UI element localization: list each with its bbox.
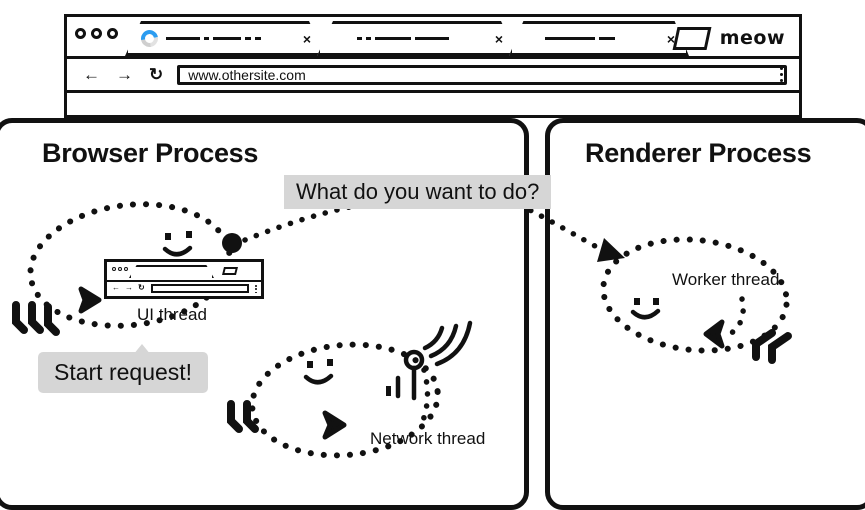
- mini-window-dot-icon: [118, 267, 122, 271]
- browser-process-title: Browser Process: [42, 138, 258, 169]
- forward-icon[interactable]: →: [116, 66, 133, 83]
- browser-brand-label: meow: [720, 27, 785, 49]
- browser-tab-3[interactable]: ×: [509, 21, 689, 56]
- mini-new-tab-icon: [222, 267, 238, 275]
- url-toolbar: ← → ↻ www.othersite.com: [67, 59, 799, 93]
- mini-window-dot-icon: [112, 267, 116, 271]
- mini-back-icon: ←: [112, 284, 120, 292]
- tab-title-scribble: [166, 37, 303, 40]
- mini-window-controls: [112, 267, 128, 271]
- network-thread-label: Network thread: [370, 429, 485, 449]
- mini-reload-icon: ↻: [138, 284, 145, 292]
- worker-thread-label: Worker thread: [672, 270, 779, 290]
- new-tab-button[interactable]: [673, 27, 712, 50]
- url-input[interactable]: www.othersite.com: [177, 65, 787, 85]
- tab-strip: × × × meow: [67, 17, 799, 59]
- window-control-dot-icon[interactable]: [75, 28, 86, 39]
- tab-close-icon[interactable]: ×: [495, 32, 503, 46]
- window-control-dot-icon[interactable]: [107, 28, 118, 39]
- mini-forward-icon: →: [125, 284, 133, 292]
- mini-menu-icon: [255, 285, 257, 293]
- browser-tab-2[interactable]: ×: [317, 21, 517, 56]
- tab-title-scribble: [545, 37, 667, 40]
- ui-thread-mini-browser: ← → ↻: [104, 259, 264, 299]
- browser-menu-icon[interactable]: [780, 67, 783, 82]
- window-control-dot-icon[interactable]: [91, 28, 102, 39]
- tab-close-icon[interactable]: ×: [303, 32, 311, 46]
- renderer-process-panel: [545, 118, 865, 510]
- browser-tab-1[interactable]: ×: [125, 21, 325, 56]
- tab-title-scribble: [357, 37, 495, 40]
- loading-spinner-icon: [138, 27, 162, 51]
- renderer-process-title: Renderer Process: [585, 138, 811, 169]
- callout-what-do-you-want-to-do: What do you want to do?: [284, 175, 551, 209]
- reload-icon[interactable]: ↻: [149, 66, 163, 83]
- mini-tab: [129, 265, 214, 278]
- mini-url-toolbar: ← → ↻: [107, 280, 261, 296]
- ui-thread-label: UI thread: [137, 305, 207, 325]
- back-icon[interactable]: ←: [83, 66, 100, 83]
- mini-url-input: [151, 284, 249, 293]
- browser-window: × × × meow ← → ↻: [64, 14, 802, 118]
- callout-start-request: Start request!: [38, 352, 208, 393]
- mini-tab-strip: [107, 262, 261, 282]
- window-controls[interactable]: [75, 28, 118, 39]
- mini-window-dot-icon: [124, 267, 128, 271]
